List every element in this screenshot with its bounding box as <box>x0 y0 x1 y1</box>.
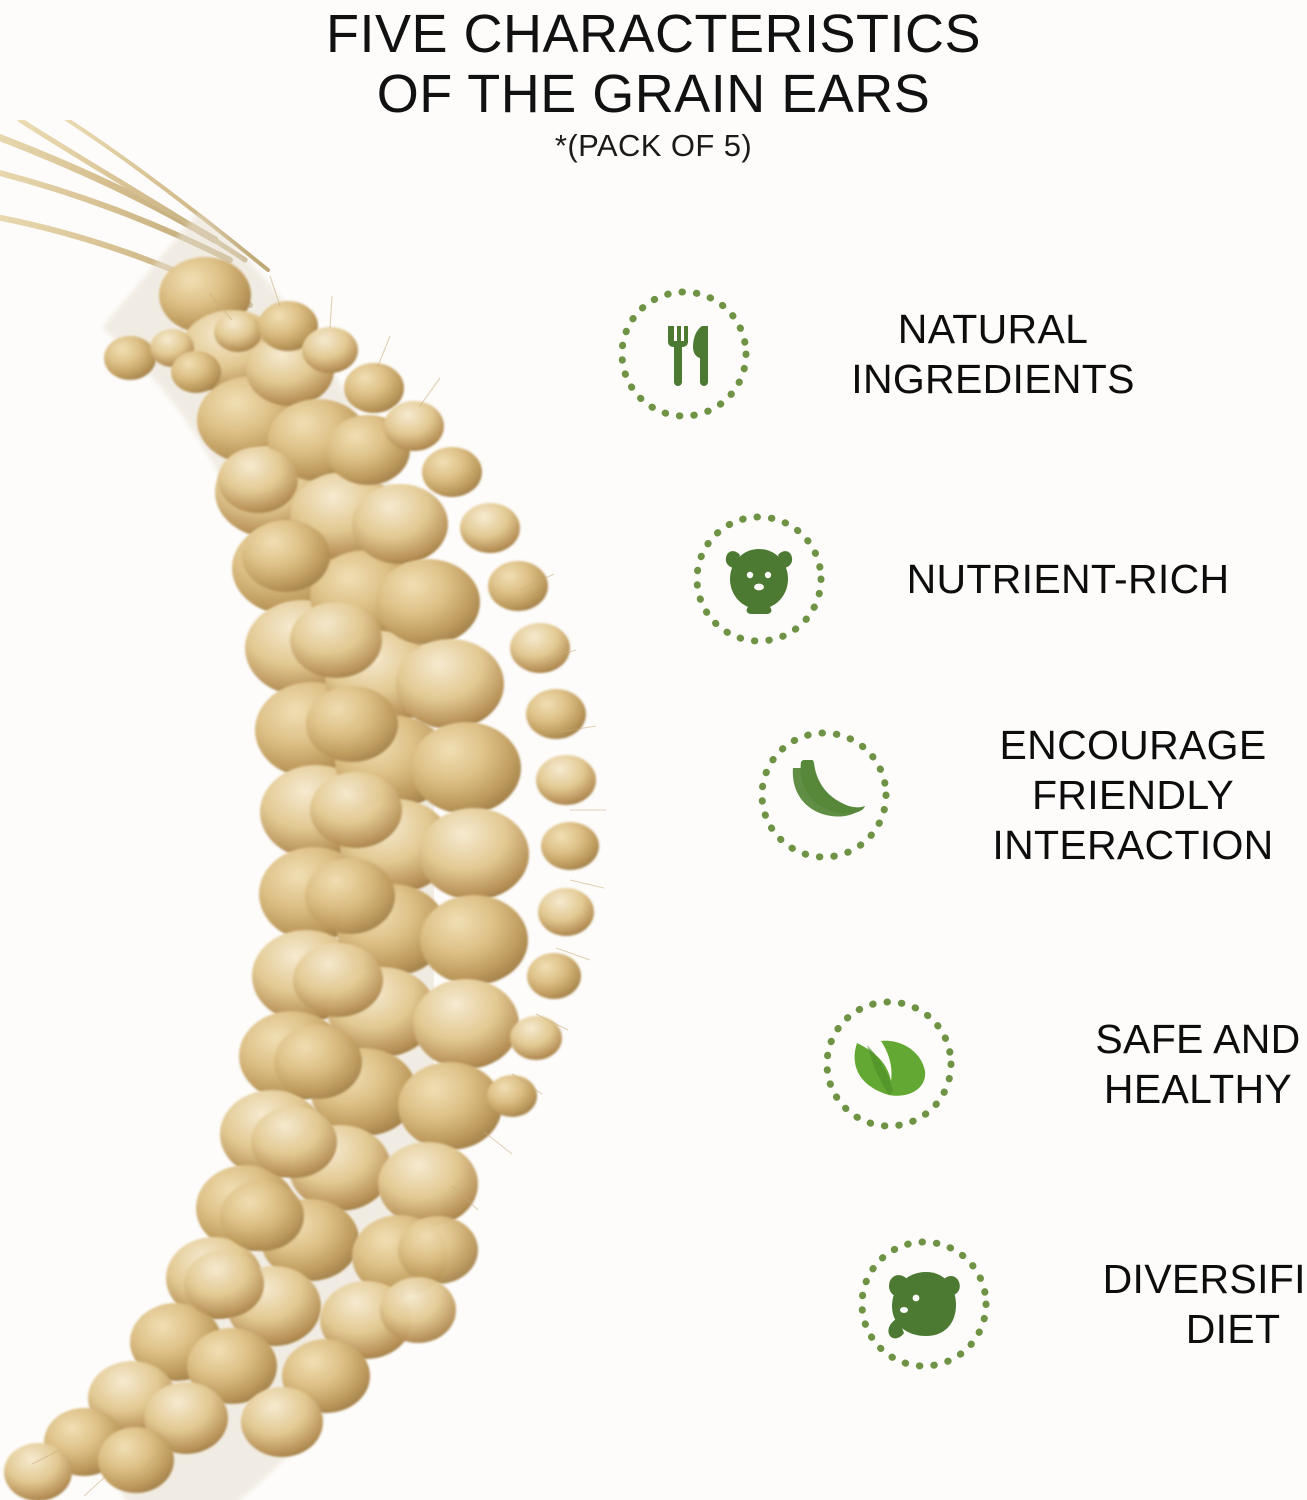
feature-nutrient-rich: NUTRIENT-RICH <box>685 505 1303 653</box>
feature-line: ENCOURAGE <box>898 720 1307 770</box>
millet-seed-clusters <box>4 257 599 1500</box>
feature-encourage-friendly-interaction: ENCOURAGE FRIENDLY INTERACTION <box>750 720 1307 870</box>
leaf-icon <box>847 1029 931 1099</box>
millet-spray-photo <box>0 120 700 1500</box>
feature-line: INGREDIENTS <box>758 354 1228 404</box>
banana-icon <box>783 760 865 830</box>
badge-diversified-diet <box>850 1230 998 1378</box>
feature-line: DIET <box>998 1304 1307 1354</box>
heading-block: FIVE CHARACTERISTICS OF THE GRAIN EARS *… <box>0 4 1307 168</box>
feature-line: HEALTHY <box>963 1064 1307 1114</box>
page-title-line-2: OF THE GRAIN EARS <box>0 64 1307 124</box>
feature-label-diversified-diet: DIVERSIFIED DIET <box>998 1254 1307 1354</box>
feature-line: INTERACTION <box>898 820 1307 870</box>
product-feature-image: FIVE CHARACTERISTICS OF THE GRAIN EARS *… <box>0 0 1307 1500</box>
badge-nutrient-rich <box>685 505 833 653</box>
feature-line: SAFE AND <box>963 1014 1307 1064</box>
feature-line: NUTRIENT-RICH <box>833 554 1303 604</box>
page-title-line-1: FIVE CHARACTERISTICS <box>0 4 1307 64</box>
feature-label-natural-ingredients: NATURAL INGREDIENTS <box>758 304 1228 404</box>
feature-line: DIVERSIFIED <box>998 1254 1307 1304</box>
badge-safe-and-healthy <box>815 990 963 1138</box>
feature-line: FRIENDLY <box>898 770 1307 820</box>
hamster-icon <box>720 543 798 615</box>
feature-safe-and-healthy: SAFE AND HEALTHY <box>815 990 1307 1138</box>
feature-label-safe-and-healthy: SAFE AND HEALTHY <box>963 1014 1307 1114</box>
feature-diversified-diet: DIVERSIFIED DIET <box>850 1230 1307 1378</box>
feature-label-nutrient-rich: NUTRIENT-RICH <box>833 554 1303 604</box>
feature-line: NATURAL <box>758 304 1228 354</box>
fork-and-knife-icon <box>648 318 720 390</box>
rodent-icon <box>882 1268 966 1340</box>
badge-encourage-friendly-interaction <box>750 721 898 869</box>
badge-natural-ingredients <box>610 280 758 428</box>
millet-illustration <box>0 120 700 1500</box>
feature-natural-ingredients: NATURAL INGREDIENTS <box>610 280 1228 428</box>
feature-label-encourage-friendly-interaction: ENCOURAGE FRIENDLY INTERACTION <box>898 720 1307 870</box>
page-subtitle: *(PACK OF 5) <box>0 124 1307 168</box>
